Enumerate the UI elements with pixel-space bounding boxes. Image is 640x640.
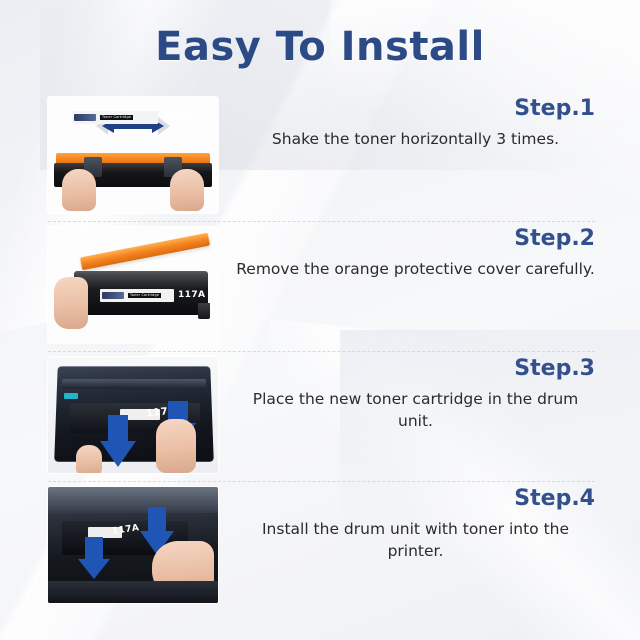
step-description: Remove the orange protective cover caref… bbox=[218, 258, 595, 280]
step-2-text: Step.2 Remove the orange protective cove… bbox=[218, 222, 640, 280]
step-label: Step.3 bbox=[218, 356, 595, 382]
step-3-text: Step.3 Place the new toner cartridge in … bbox=[218, 352, 640, 432]
cartridge-foot-right bbox=[198, 303, 210, 319]
step-1-illustration: Toner Cartridge 117A bbox=[48, 97, 218, 213]
cartridge-tag-text: Toner Cartridge bbox=[100, 115, 133, 121]
printer-lid bbox=[48, 487, 218, 513]
install-guide-page: Easy To Install bbox=[0, 0, 640, 640]
step-row: Toner Cartridge 117A Step.1 Shake the to… bbox=[0, 92, 640, 222]
hand-right bbox=[170, 169, 204, 211]
brand-mark-icon bbox=[74, 114, 96, 121]
step-3-illustration: 117A bbox=[48, 357, 218, 473]
step-description: Shake the toner horizontally 3 times. bbox=[218, 128, 595, 150]
cartridge-code-text: 117A bbox=[164, 112, 191, 122]
steps-list: Toner Cartridge 117A Step.1 Shake the to… bbox=[0, 92, 640, 612]
step-4-text: Step.4 Install the drum unit with toner … bbox=[218, 482, 640, 562]
step-description: Place the new toner cartridge in the dru… bbox=[218, 388, 595, 432]
hand-left bbox=[54, 277, 88, 329]
down-arrow-icon-left bbox=[78, 537, 110, 579]
cartridge-code-text: 117A bbox=[178, 290, 205, 300]
cartridge-label: Toner Cartridge bbox=[72, 111, 158, 124]
step-label: Step.2 bbox=[218, 226, 595, 252]
down-arrow-icon-left bbox=[100, 415, 136, 467]
brand-mark-icon bbox=[102, 292, 124, 299]
step-2-illustration: Toner Cartridge 117A bbox=[48, 227, 218, 343]
step-label: Step.4 bbox=[218, 486, 595, 512]
page-title: Easy To Install bbox=[0, 24, 640, 70]
step-1-text: Step.1 Shake the toner horizontally 3 ti… bbox=[218, 92, 640, 150]
step-row: Toner Cartridge 117A Step.2 Remove the o… bbox=[0, 222, 640, 352]
step-label: Step.1 bbox=[218, 96, 595, 122]
drum-rail bbox=[62, 379, 206, 389]
drum-cyan-marker bbox=[64, 393, 78, 399]
cartridge-label: Toner Cartridge bbox=[100, 289, 174, 302]
step-row: 117A Step.4 Install the drum unit with t… bbox=[0, 482, 640, 612]
hand-left bbox=[62, 169, 96, 211]
step-description: Install the drum unit with toner into th… bbox=[218, 518, 595, 562]
hand-left bbox=[76, 445, 102, 473]
hand-right bbox=[156, 419, 196, 473]
cartridge-tag-text: Toner Cartridge bbox=[128, 293, 161, 299]
step-4-illustration: 117A bbox=[48, 487, 218, 603]
printer-base bbox=[48, 581, 218, 603]
step-row: 117A Step.3 Place the new toner cartridg… bbox=[0, 352, 640, 482]
